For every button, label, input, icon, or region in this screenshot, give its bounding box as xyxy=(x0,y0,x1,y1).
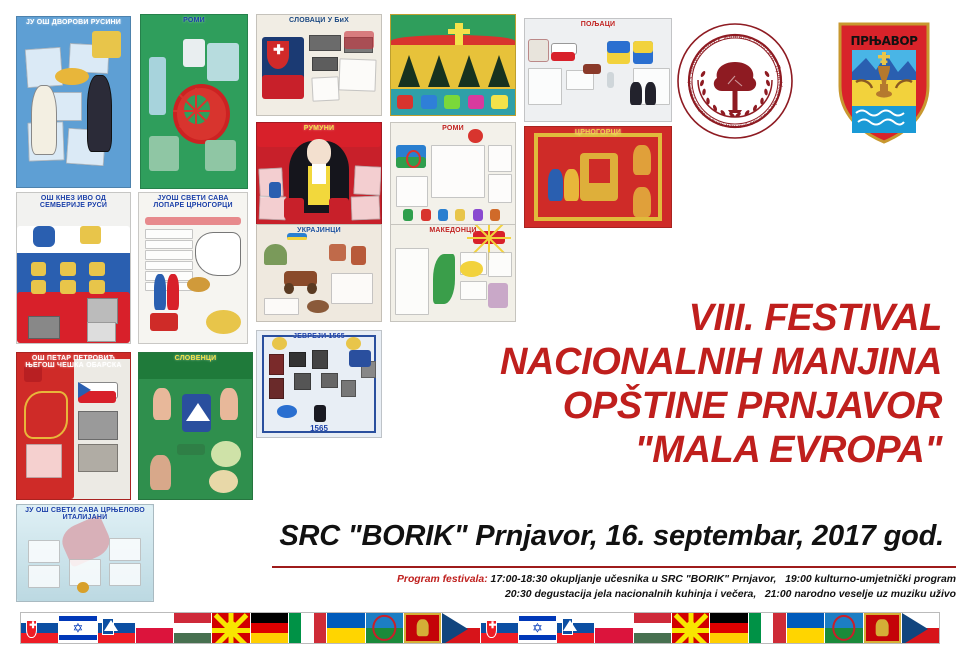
headline-line-2: NACIONALNIH MANJINA xyxy=(322,340,942,384)
tree-icon xyxy=(714,62,756,113)
flag-israel: ✡ xyxy=(59,613,97,643)
flag-slovakia: ✚ xyxy=(21,613,59,643)
collage-poster-p5: ПОЉАЦИ xyxy=(524,18,672,122)
collage-poster-p8: ЦРНОГОРЦИ xyxy=(524,126,672,228)
collage-poster-p16: ЈУ ОШ СВЕТИ САВА ЦРЊЕЛОВО ИТАЛИЈАНИ xyxy=(16,504,154,602)
poster-artwork xyxy=(17,353,130,499)
collage-poster-title: ЈУ ОШ СВЕТИ САВА ЦРЊЕЛОВО ИТАЛИЈАНИ xyxy=(17,507,153,522)
collage-poster-title: УКРАЈИНЦИ xyxy=(257,227,381,234)
collage-poster-title: СЛОВАЦИ У БиХ xyxy=(257,17,381,24)
headline-line-4: "MALA EVROPA" xyxy=(322,428,942,472)
collage-poster-p3: ✚СЛОВАЦИ У БиХ xyxy=(256,14,382,116)
flag-roma xyxy=(366,613,404,643)
logo-group: Савез националних мањина општине Прњавор… xyxy=(676,8,946,148)
flag-montenegro xyxy=(404,613,442,643)
flag-roma xyxy=(825,613,863,643)
flag-hungary xyxy=(634,613,672,643)
collage-poster-p10: ЈУОШ СВЕТИ САВА ЛОПАРЕ ЦРНОГОРЦИ xyxy=(138,192,248,344)
program-line-1: 17:00-18:30 okupljanje učesnika u SRC "B… xyxy=(491,574,956,585)
program-schedule: Program festivala: 17:00-18:30 okupljanj… xyxy=(272,572,956,602)
poster-artwork xyxy=(257,123,381,225)
page-title: VIII. FESTIVAL NACIONALNIH MANJINA OPŠTI… xyxy=(322,296,942,472)
collage-poster-title: РОМИ xyxy=(141,17,247,24)
festival-poster: ЈУ ОШ ДВОРОВИ РУСИНИРОМИ✚СЛОВАЦИ У БиХПО… xyxy=(0,0,960,653)
flag-ukraine xyxy=(787,613,825,643)
flag-germany xyxy=(251,613,289,643)
collage-poster-p9: ОШ КНЕЗ ИВО ОД СЕМБЕРИЈЕ РУСИ xyxy=(16,192,131,344)
flag-germany xyxy=(710,613,748,643)
collage-poster-p15: СЛОВЕНЦИ xyxy=(138,352,253,500)
poster-artwork xyxy=(391,15,515,115)
flag-ukraine xyxy=(327,613,365,643)
collage-poster-p6: РУМУНИ xyxy=(256,122,382,226)
poster-artwork: ✚ xyxy=(257,15,381,115)
flag-slovenia xyxy=(557,613,595,643)
flag-slovakia: ✚ xyxy=(481,613,519,643)
flag-slovenia xyxy=(98,613,136,643)
svg-text:ПРЊАВОР: ПРЊАВОР xyxy=(850,34,918,48)
program-line-2: 20:30 degustacija jela nacionalnih kuhin… xyxy=(272,587,956,602)
poster-artwork xyxy=(139,193,247,343)
poster-artwork xyxy=(141,15,247,188)
flag-italy xyxy=(749,613,787,643)
collage-poster-p2: РОМИ xyxy=(140,14,248,189)
collage-poster-title: ОШ ПЕТАР ПЕТРОВИЋ ЊЕГОШ ЧЕШКА ОБАРСКА xyxy=(17,355,130,370)
collage-poster-p14: ОШ ПЕТАР ПЕТРОВИЋ ЊЕГОШ ЧЕШКА ОБАРСКА xyxy=(16,352,131,500)
poster-artwork xyxy=(139,353,252,499)
flag-poland xyxy=(136,613,174,643)
collage-poster-title: РУМУНИ xyxy=(257,125,381,132)
poster-artwork xyxy=(17,193,130,343)
flag-czechia xyxy=(442,613,480,643)
flag-italy xyxy=(289,613,327,643)
poster-artwork xyxy=(525,19,671,121)
flag-poland xyxy=(595,613,633,643)
venue-and-date: SRC "BORIK" Prnjavor, 16. septembar, 201… xyxy=(244,520,944,553)
collage-poster-title: ЈУОШ СВЕТИ САВА ЛОПАРЕ ЦРНОГОРЦИ xyxy=(139,195,247,210)
collage-poster-title: ЦРНОГОРЦИ xyxy=(525,129,671,136)
collage-poster-title: ПОЉАЦИ xyxy=(525,21,671,28)
program-label: Program festivala: xyxy=(397,574,488,585)
collage-poster-title: СЛОВЕНЦИ xyxy=(139,355,252,362)
flag-hungary xyxy=(174,613,212,643)
poster-artwork xyxy=(391,123,515,225)
collage-poster-title: РОМИ xyxy=(391,125,515,132)
collage-poster-title: ОШ КНЕЗ ИВО ОД СЕМБЕРИЈЕ РУСИ xyxy=(17,195,130,210)
flag-czechia xyxy=(902,613,939,643)
headline-line-1: VIII. FESTIVAL xyxy=(322,296,942,340)
collage-poster-title: МАКЕДОНЦИ xyxy=(391,227,515,234)
savez-nacionalnih-manjina-seal-icon: Савез националних мањина општине Прњавор… xyxy=(676,22,794,140)
headline-line-3: OPŠTINE PRNJAVOR xyxy=(322,384,942,428)
collage-poster-p4 xyxy=(390,14,516,116)
collage-poster-p7: РОМИ xyxy=(390,122,516,226)
flag-israel: ✡ xyxy=(519,613,557,643)
flag-strip: ✚ ✡ xyxy=(20,612,940,644)
poster-artwork xyxy=(17,17,130,187)
collage-poster-p1: ЈУ ОШ ДВОРОВИ РУСИНИ xyxy=(16,16,131,188)
flag-macedonia xyxy=(212,613,250,643)
divider xyxy=(272,566,956,568)
flag-macedonia xyxy=(672,613,710,643)
collage-poster-title: ЈУ ОШ ДВОРОВИ РУСИНИ xyxy=(17,19,130,26)
prnjavor-coat-of-arms-icon: ПРЊАВОР xyxy=(832,14,936,146)
flag-montenegro xyxy=(864,613,902,643)
poster-artwork xyxy=(525,127,671,227)
